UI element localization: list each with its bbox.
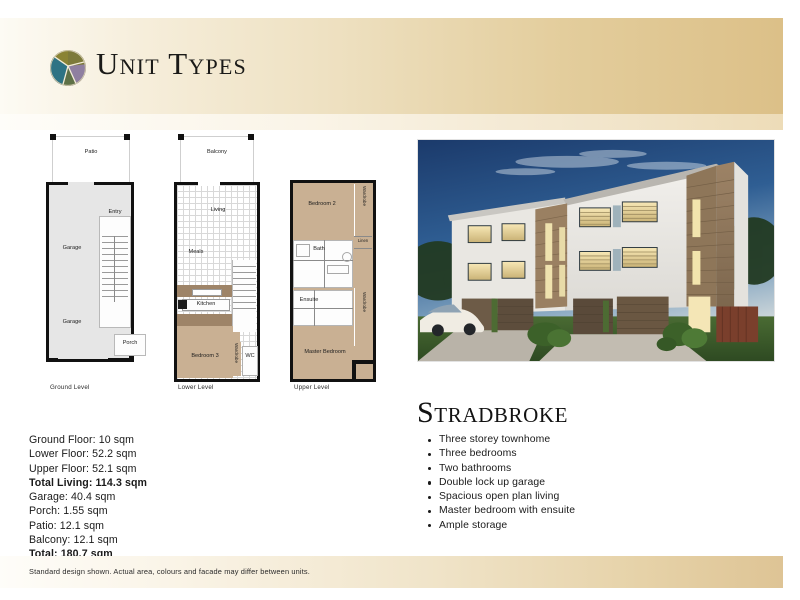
- living-label: Living: [200, 208, 236, 214]
- balcony-label: Balcony: [181, 149, 253, 155]
- caption-lower-level: Lower Level: [178, 384, 214, 391]
- garage-lower-label: Garage: [52, 320, 92, 326]
- area-line: Porch: 1.55 sqm: [29, 504, 259, 518]
- garage-upper-label: Garage: [52, 246, 92, 252]
- floor-plan-ground: Patio Garage Garage Ent: [30, 132, 148, 400]
- caption-upper-level: Upper Level: [294, 384, 330, 391]
- list-item: Double lock up garage: [439, 476, 769, 490]
- patio-label: Patio: [53, 149, 129, 155]
- area-line: Patio: 12.1 sqm: [29, 519, 259, 533]
- ensuite-label: Ensuite: [292, 298, 326, 304]
- ground-patio-zone: Patio: [52, 136, 130, 183]
- circular-segmented-logo-icon: [48, 48, 88, 88]
- lower-wall-opening-top: [198, 182, 220, 186]
- wc-label: WC: [242, 354, 258, 360]
- disclaimer-text: Standard design shown. Actual area, colo…: [29, 567, 310, 576]
- floor-plan-upper: Bedroom 2 Wardrobe Linen Bath Ensuite Wa…: [278, 132, 398, 400]
- bath-label: Bath: [304, 247, 334, 253]
- list-item: Three bedrooms: [439, 447, 769, 461]
- lower-kitchen-band-2: [177, 314, 232, 326]
- wardrobe-top-label: Wardrobe: [362, 186, 367, 206]
- list-item: Three storey townhome: [439, 433, 769, 447]
- caption-ground-level: Ground Level: [50, 384, 90, 391]
- meals-label: Meals: [178, 250, 214, 256]
- patio-post-right: [124, 134, 130, 140]
- list-item: Two bathrooms: [439, 462, 769, 476]
- kitchen-label: Kitchen: [185, 302, 227, 308]
- ground-wall-opening-top: [68, 182, 94, 186]
- master-bedroom-label: Master Bedroom: [292, 350, 358, 356]
- area-line: Lower Floor: 52.2 sqm: [29, 447, 259, 461]
- area-line-total-living: Total Living: 114.3 sqm: [29, 476, 259, 490]
- header-fade: [0, 114, 783, 130]
- patio-post-left: [50, 134, 56, 140]
- area-line: Upper Floor: 52.1 sqm: [29, 462, 259, 476]
- bedroom3-label: Bedroom 3: [182, 354, 228, 360]
- list-item: Ample storage: [439, 519, 769, 533]
- balcony-post-right: [248, 134, 254, 140]
- slide-page: Unit Types Patio: [0, 0, 800, 600]
- lower-balcony-zone: Balcony: [180, 136, 254, 183]
- area-line: Garage: 40.4 sqm: [29, 490, 259, 504]
- porch-label: Porch: [115, 341, 145, 347]
- wardrobe-lower-label: Wardrobe: [234, 343, 239, 363]
- floor-plan-lower: Balcony Living Meals: [162, 132, 277, 400]
- area-line: Ground Floor: 10 sqm: [29, 433, 259, 447]
- building-render-image: [417, 139, 775, 362]
- wardrobe-bottom-label: Wardrobe: [362, 292, 367, 312]
- bath-basin: [327, 265, 349, 274]
- area-schedule: Ground Floor: 10 sqm Lower Floor: 52.2 s…: [29, 433, 259, 562]
- feature-list: Three storey townhome Three bedrooms Two…: [421, 433, 769, 533]
- lower-wc: [242, 346, 258, 376]
- list-item: Spacious open plan living: [439, 490, 769, 504]
- linen-label: Linen: [353, 239, 373, 243]
- kitchen-bench: [192, 289, 222, 296]
- product-name: Stradbroke: [417, 396, 568, 430]
- balcony-post-left: [178, 134, 184, 140]
- list-item: Master bedroom with ensuite: [439, 504, 769, 518]
- area-line: Balcony: 12.1 sqm: [29, 533, 259, 547]
- floor-plans-group: Patio Garage Garage Ent: [30, 132, 400, 400]
- entry-label: Entry: [100, 210, 130, 216]
- lower-bedroom3: [177, 326, 233, 378]
- page-title: Unit Types: [96, 46, 247, 82]
- bath-shower-circle: [342, 252, 352, 262]
- bedroom2-label: Bedroom 2: [296, 202, 348, 208]
